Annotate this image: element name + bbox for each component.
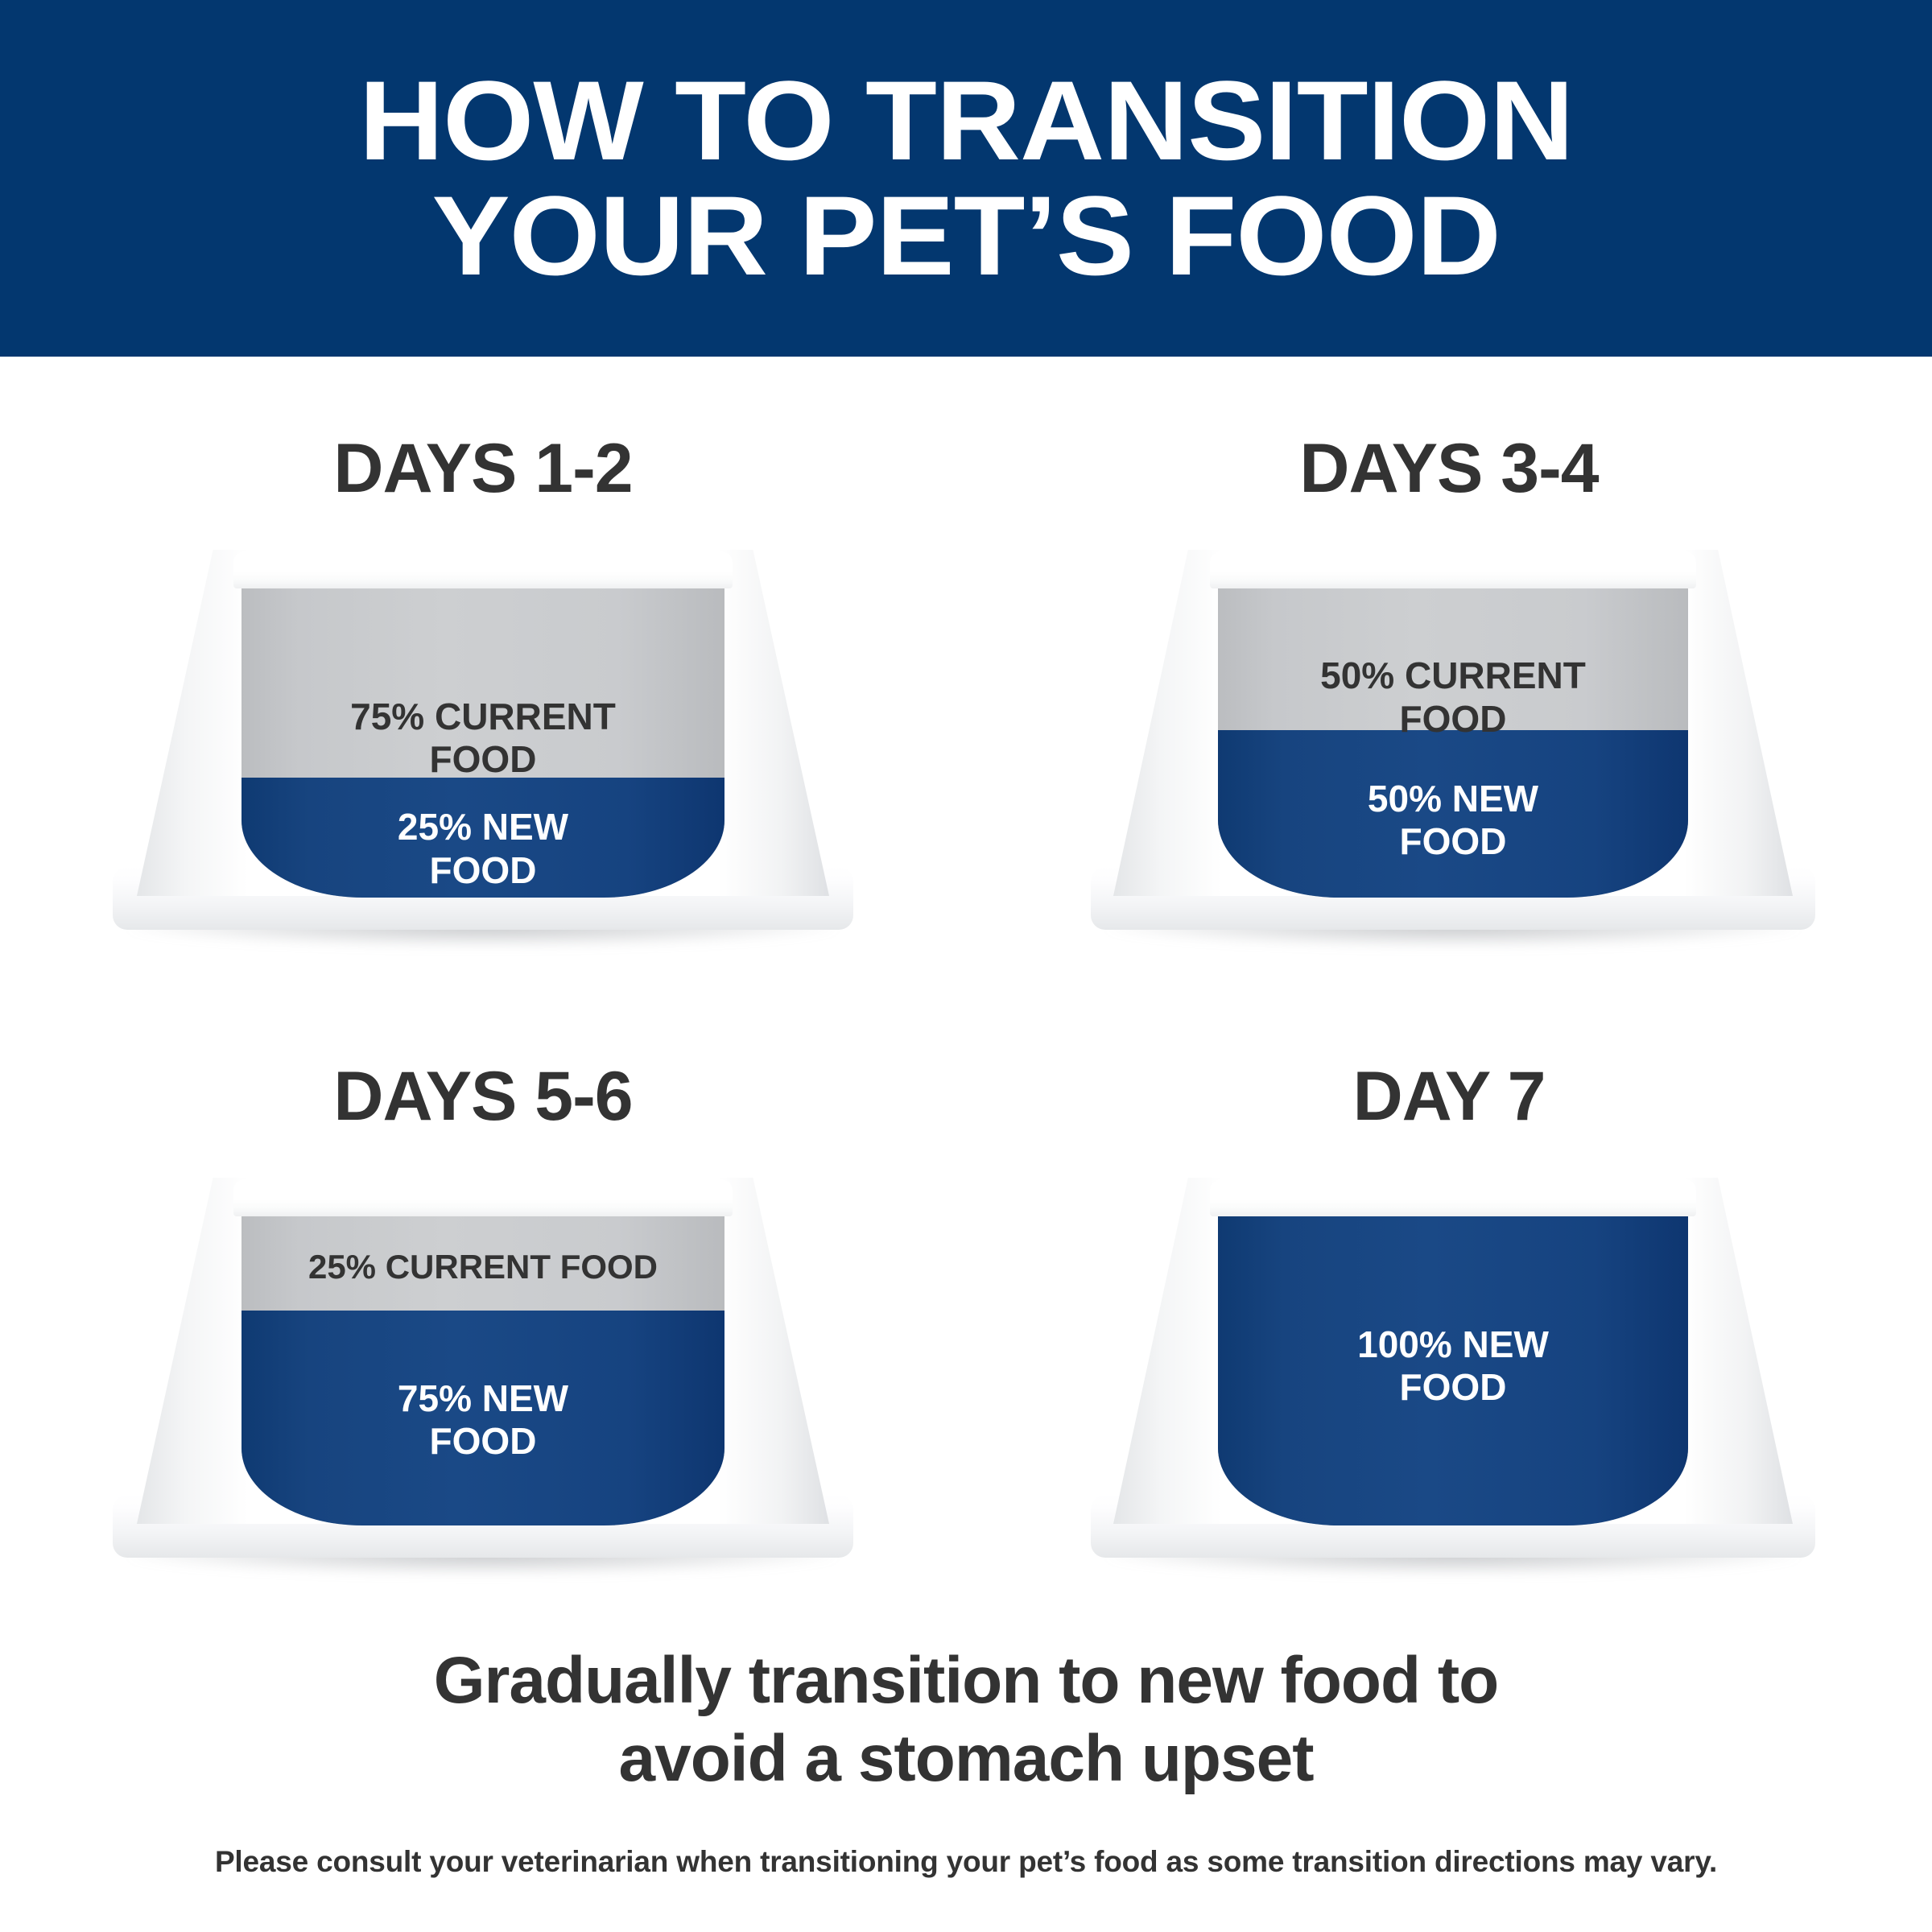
- transition-step-days-1-2: DAYS 1-2 75% CURRENT FOOD 25% NEW FOOD: [0, 357, 966, 985]
- pet-food-bowl: 75% CURRENT FOOD 25% NEW FOOD: [113, 550, 853, 952]
- tagline-line-1: Gradually transition to new food to: [0, 1642, 1932, 1720]
- page-title-line-1: HOW TO TRANSITION: [359, 64, 1573, 179]
- header-banner: HOW TO TRANSITION YOUR PET’S FOOD: [0, 0, 1932, 357]
- step-title: DAYS 1-2: [0, 429, 966, 509]
- step-title: DAYS 3-4: [966, 429, 1932, 509]
- step-title: DAYS 5-6: [0, 1057, 966, 1137]
- current-food-label: 75% CURRENT FOOD: [242, 696, 724, 782]
- bowl-rim: [233, 551, 733, 588]
- new-food-label: 75% NEW FOOD: [242, 1377, 724, 1463]
- transition-steps-grid: DAYS 1-2 75% CURRENT FOOD 25% NEW FOOD D: [0, 357, 1932, 1612]
- step-title: DAY 7: [966, 1057, 1932, 1137]
- bowl-rim: [1210, 551, 1696, 588]
- bowl-rim: [1210, 1179, 1696, 1216]
- tagline-line-2: avoid a stomach upset: [0, 1720, 1932, 1798]
- bowl-cavity: 100% NEW FOOD: [1218, 1210, 1688, 1525]
- bowl-cavity: 75% CURRENT FOOD 25% NEW FOOD: [242, 582, 724, 898]
- bowl-cavity: 50% CURRENT FOOD 50% NEW FOOD: [1218, 582, 1688, 898]
- new-food-label: 50% NEW FOOD: [1218, 778, 1688, 864]
- pet-food-bowl: 50% CURRENT FOOD 50% NEW FOOD: [1091, 550, 1815, 952]
- current-food-label: 25% CURRENT FOOD: [242, 1248, 724, 1287]
- bowl-cavity: 25% CURRENT FOOD 75% NEW FOOD: [242, 1210, 724, 1525]
- current-food-label: 50% CURRENT FOOD: [1218, 654, 1688, 741]
- page-title: HOW TO TRANSITION YOUR PET’S FOOD: [292, 64, 1641, 294]
- bowl-rim: [233, 1179, 733, 1216]
- tagline: Gradually transition to new food to avoi…: [0, 1642, 1932, 1798]
- page-title-line-2: YOUR PET’S FOOD: [359, 179, 1573, 294]
- transition-step-day-7: DAY 7 100% NEW FOOD: [966, 985, 1932, 1612]
- new-food-label: 25% NEW FOOD: [242, 806, 724, 892]
- new-food-label: 100% NEW FOOD: [1218, 1323, 1688, 1410]
- transition-step-days-3-4: DAYS 3-4 50% CURRENT FOOD 50% NEW FOOD: [966, 357, 1932, 985]
- pet-food-bowl: 100% NEW FOOD: [1091, 1178, 1815, 1580]
- disclaimer-text: Please consult your veterinarian when tr…: [0, 1845, 1932, 1879]
- transition-step-days-5-6: DAYS 5-6 25% CURRENT FOOD 75% NEW FOOD: [0, 985, 966, 1612]
- pet-food-bowl: 25% CURRENT FOOD 75% NEW FOOD: [113, 1178, 853, 1580]
